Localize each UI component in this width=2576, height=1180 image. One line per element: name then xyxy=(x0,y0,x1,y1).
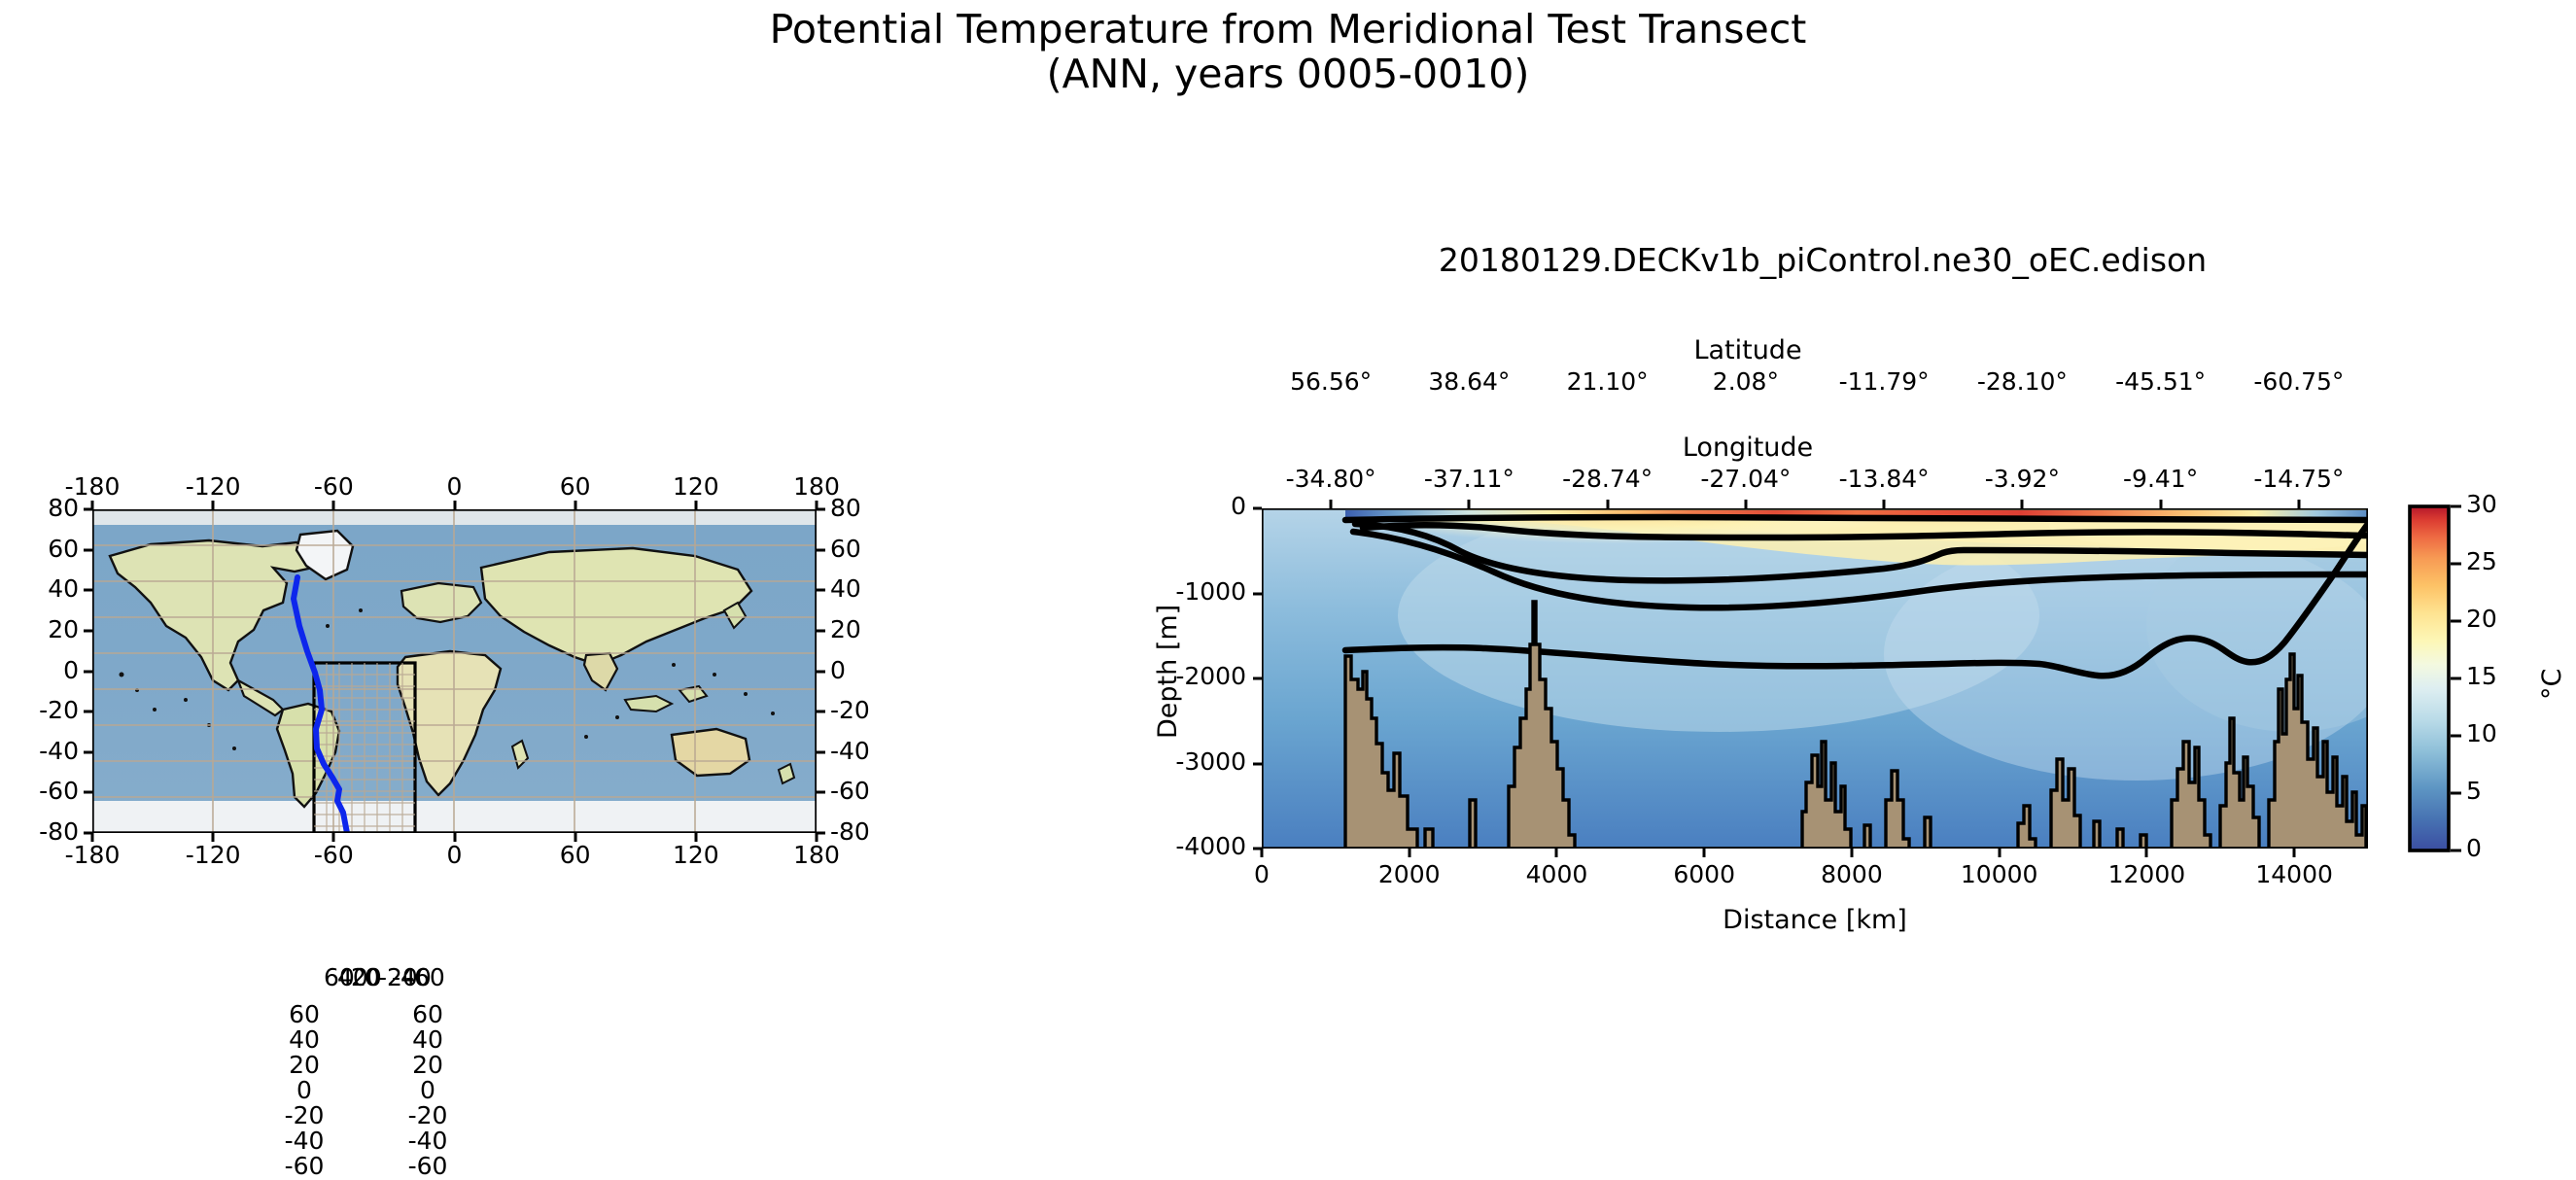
map-lon-tick-top: 60 xyxy=(560,472,591,501)
section-top-tickmark xyxy=(1882,498,1886,510)
map-lat-tickmark-left xyxy=(82,629,94,633)
map-overlap-label: -60 xyxy=(405,963,445,991)
map-lon-tick-bottom: 120 xyxy=(673,841,719,869)
map-lat-tick-left: -20 xyxy=(39,696,79,724)
map-lat-tickmark-left xyxy=(82,548,94,552)
map-lat-tickmark-left xyxy=(82,670,94,674)
map-lon-tick-top: 0 xyxy=(447,472,463,501)
latitude-tick: 21.10° xyxy=(1567,367,1649,396)
map-lon-tickmark-top xyxy=(694,499,698,511)
latitude-tick: -45.51° xyxy=(2115,367,2206,396)
latitude-axis-label: Latitude xyxy=(1693,335,1801,365)
latitude-tick: 2.08° xyxy=(1713,367,1779,396)
section-top-tickmark xyxy=(2020,498,2024,510)
map-overlap-label: 0 xyxy=(420,1076,435,1104)
map-lat-tick-left: 0 xyxy=(63,656,79,684)
section-top-tickmark xyxy=(2159,498,2163,510)
map-lat-tick-right: 40 xyxy=(830,574,861,603)
distance-tickmark xyxy=(1850,847,1854,859)
distance-tick: 6000 xyxy=(1673,860,1735,888)
colorbar-tick: 5 xyxy=(2466,777,2482,805)
longitude-tick: -14.75° xyxy=(2253,465,2344,493)
colorbar-tick: 0 xyxy=(2466,834,2482,862)
colorbar-tick: 25 xyxy=(2466,547,2497,575)
map-lat-tickmark-right xyxy=(815,790,827,794)
map-lat-tickmark-right xyxy=(815,750,827,754)
longitude-tick: -3.92° xyxy=(1985,465,2060,493)
distance-tickmark xyxy=(2292,847,2296,859)
colorbar-tickmark xyxy=(2449,677,2463,680)
figure-title-line1: Potential Temperature from Meridional Te… xyxy=(770,6,1807,52)
longitude-tick: -9.41° xyxy=(2123,465,2198,493)
colorbar-tickmark xyxy=(2449,849,2463,852)
colorbar-unit-label: °C xyxy=(2537,669,2567,700)
map-lat-tick-right: 0 xyxy=(830,656,846,684)
map-lon-tick-bottom: 0 xyxy=(447,841,463,869)
distance-tick: 4000 xyxy=(1526,860,1588,888)
dataset-run-name: 20180129.DECKv1b_piControl.ne30_oEC.edis… xyxy=(1293,241,2352,279)
map-lon-tickmark-bottom xyxy=(453,831,457,844)
map-overlap-label: -20 xyxy=(285,1101,325,1129)
map-lon-tickmark-bottom xyxy=(694,831,698,844)
map-overlap-label: 20 xyxy=(289,1051,320,1079)
colorbar-tickmark xyxy=(2449,504,2463,508)
map-lon-tickmark-top xyxy=(211,499,215,511)
depth-tick: 0 xyxy=(1231,492,1246,520)
map-lat-tickmark-right xyxy=(815,507,827,511)
map-lon-tickmark-top xyxy=(331,499,335,511)
section-top-tickmark xyxy=(2297,498,2301,510)
depth-tickmark xyxy=(1251,506,1264,510)
map-lon-tick-top: -120 xyxy=(186,472,241,501)
latitude-tick: 56.56° xyxy=(1290,367,1372,396)
longitude-tick: -28.74° xyxy=(1562,465,1653,493)
longitude-tick: -13.84° xyxy=(1839,465,1930,493)
map-lat-tickmark-left xyxy=(82,790,94,794)
map-lat-tick-left: 20 xyxy=(48,615,79,643)
map-overlap-label: 60 xyxy=(412,1000,443,1028)
map-lon-tick-bottom: -120 xyxy=(186,841,241,869)
map-lon-tickmark-top xyxy=(453,499,457,511)
map-lat-tick-left: 80 xyxy=(48,494,79,522)
section-svg xyxy=(1262,508,2368,849)
colorbar-tickmark xyxy=(2449,562,2463,566)
map-lat-tick-left: -80 xyxy=(39,817,79,846)
distance-tick: 12000 xyxy=(2108,860,2186,888)
longitude-tick: -27.04° xyxy=(1700,465,1791,493)
colorbar xyxy=(2408,504,2451,852)
longitude-tick: -34.80° xyxy=(1286,465,1376,493)
colorbar-tick: 20 xyxy=(2466,605,2497,633)
map-lat-tickmark-left xyxy=(82,831,94,835)
map-lat-tickmark-left xyxy=(82,588,94,592)
map-lat-tick-right: -40 xyxy=(830,737,870,765)
longitude-tick: -37.11° xyxy=(1424,465,1514,493)
map-lat-tick-right: -60 xyxy=(830,777,870,805)
map-overlap-label: 0 xyxy=(296,1076,312,1104)
map-overlap-label: -40 xyxy=(285,1127,325,1155)
map-lon-tick-top: -60 xyxy=(314,472,354,501)
longitude-axis-label: Longitude xyxy=(1683,433,1813,463)
map-lat-tick-right: 60 xyxy=(830,535,861,563)
latitude-tick: -11.79° xyxy=(1839,367,1930,396)
colorbar-gradient xyxy=(2410,506,2449,850)
colorbar-tickmark xyxy=(2449,619,2463,623)
map-overlap-label: 40 xyxy=(412,1025,443,1054)
section-top-tickmark xyxy=(1467,498,1471,510)
distance-tick: 14000 xyxy=(2255,860,2333,888)
distance-tickmark xyxy=(1554,847,1558,859)
latitude-tick: -28.10° xyxy=(1977,367,2068,396)
map-lon-tickmark-bottom xyxy=(574,831,577,844)
map-lat-tickmark-left xyxy=(82,710,94,713)
depth-tickmark xyxy=(1251,762,1264,766)
map-lat-tickmark-right xyxy=(815,670,827,674)
map-lat-tickmark-left xyxy=(82,507,94,511)
depth-axis-label: Depth [m] xyxy=(1153,605,1183,739)
map-lat-tick-left: 40 xyxy=(48,574,79,603)
map-lat-tickmark-left xyxy=(82,750,94,754)
latitude-tick: -60.75° xyxy=(2253,367,2344,396)
map-lat-tick-right: -20 xyxy=(830,696,870,724)
map-overlap-label: -60 xyxy=(285,1152,325,1180)
map-lat-tick-right: -80 xyxy=(830,817,870,846)
map-lon-tickmark-top xyxy=(574,499,577,511)
figure-canvas: Potential Temperature from Meridional Te… xyxy=(0,0,2576,961)
map-lat-tick-right: 20 xyxy=(830,615,861,643)
depth-tickmark xyxy=(1251,592,1264,596)
colorbar-tickmark xyxy=(2449,791,2463,795)
distance-tickmark xyxy=(1998,847,2002,859)
map-lat-tick-left: 60 xyxy=(48,535,79,563)
map-lat-tick-left: -40 xyxy=(39,737,79,765)
map-lon-tickmark-bottom xyxy=(331,831,335,844)
distance-tick: 8000 xyxy=(1821,860,1883,888)
distance-tickmark xyxy=(2144,847,2148,859)
map-lat-tickmark-right xyxy=(815,548,827,552)
colorbar-tick: 30 xyxy=(2466,490,2497,518)
transect-section-plot xyxy=(1262,508,2368,849)
map-lat-tickmark-right xyxy=(815,629,827,633)
map-lat-tickmark-right xyxy=(815,588,827,592)
map-lon-tick-bottom: 60 xyxy=(560,841,591,869)
map-overlap-label: -20 xyxy=(408,1101,448,1129)
colorbar-tickmark xyxy=(2449,734,2463,738)
colorbar-tick: 10 xyxy=(2466,719,2497,747)
map-lat-tick-left: -60 xyxy=(39,777,79,805)
latitude-tick: 38.64° xyxy=(1428,367,1510,396)
map-overlap-label: -40 xyxy=(408,1127,448,1155)
section-top-tickmark xyxy=(1606,498,1610,510)
map-lat-tickmark-right xyxy=(815,710,827,713)
map-overlap-label: 20 xyxy=(412,1051,443,1079)
distance-tickmark xyxy=(1702,847,1706,859)
distance-tickmark xyxy=(1408,847,1411,859)
map-overlap-label: -60 xyxy=(408,1152,448,1180)
map-overlap-label: 40 xyxy=(289,1025,320,1054)
section-top-tickmark xyxy=(1329,498,1333,510)
depth-tick: -1000 xyxy=(1175,577,1246,606)
distance-tick: 0 xyxy=(1254,860,1270,888)
map-lon-tick-top: 120 xyxy=(673,472,719,501)
section-top-tickmark xyxy=(1744,498,1748,510)
figure-title: Potential Temperature from Meridional Te… xyxy=(0,8,2576,97)
map-overlap-label: 60 xyxy=(289,1000,320,1028)
map-lat-tickmark-right xyxy=(815,831,827,835)
transect-location-map: 6040200-20-40-60 6040200-20-40-60 604020… xyxy=(92,509,817,833)
map-lon-tick-bottom: -60 xyxy=(314,841,354,869)
depth-tick: -3000 xyxy=(1175,747,1246,776)
depth-tick: -2000 xyxy=(1175,662,1246,690)
figure-title-line2: (ANN, years 0005-0010) xyxy=(0,52,2576,97)
map-lon-tickmark-bottom xyxy=(211,831,215,844)
map-svg xyxy=(92,509,817,833)
depth-tickmark xyxy=(1251,677,1264,680)
distance-axis-label: Distance [km] xyxy=(1723,905,1907,935)
distance-tick: 10000 xyxy=(1961,860,2038,888)
map-lat-tick-right: 80 xyxy=(830,494,861,522)
distance-tickmark xyxy=(1260,847,1264,859)
distance-tick: 2000 xyxy=(1378,860,1441,888)
colorbar-tick: 15 xyxy=(2466,662,2497,690)
depth-tick: -4000 xyxy=(1175,832,1246,860)
